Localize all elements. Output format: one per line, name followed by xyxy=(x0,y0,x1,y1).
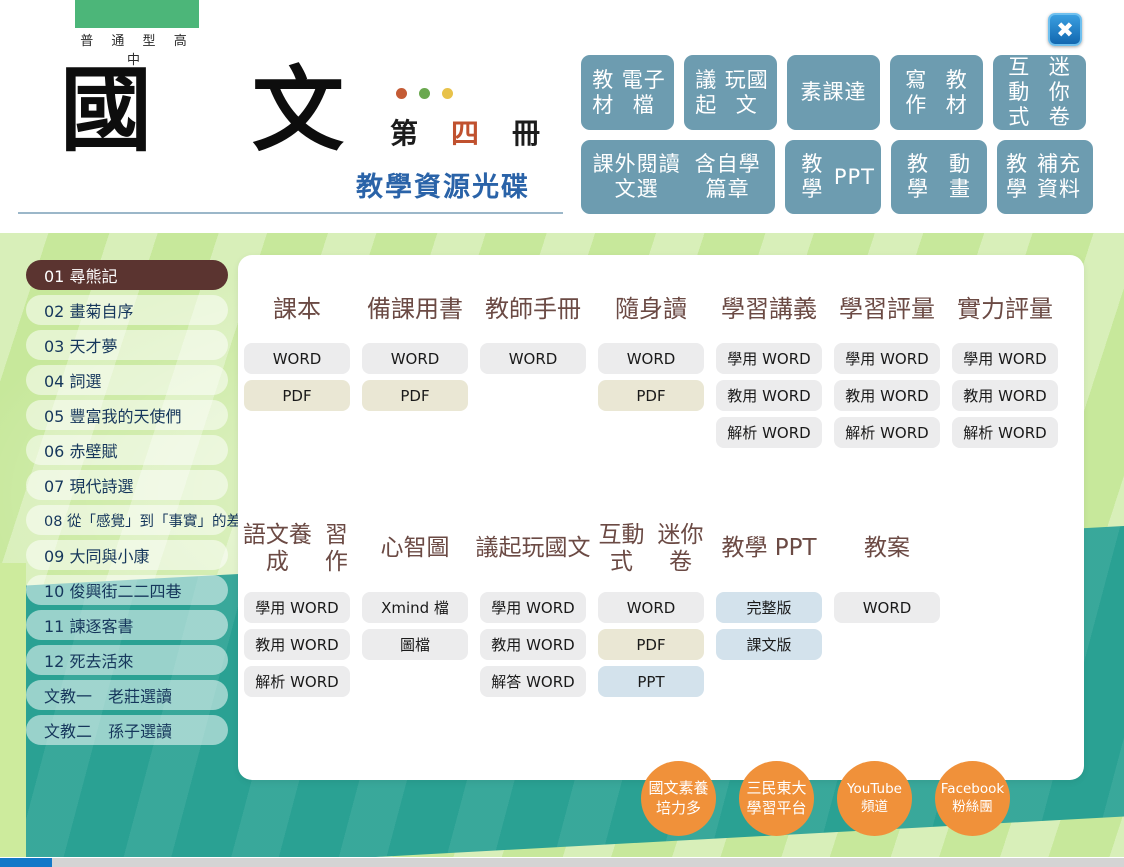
page-title: 國 文 xyxy=(60,62,378,159)
circle-chinese-literacy[interactable]: 國文素養培力多 xyxy=(641,761,716,836)
sidebar-item-label: 文教二 孫子選讀 xyxy=(44,718,172,742)
resource-section-1: 課本WORDPDF備課用書WORDPDF教師手冊WORD隨身讀WORDPDF學習… xyxy=(238,295,1084,454)
application-window: 普 通 型 高 中 國 文 第 四 冊 教學資源光碟 教材電子檔議起玩國文素課達… xyxy=(0,0,1124,867)
sidebar-item-8[interactable]: 08 從「感覺」到「事實」的差距 xyxy=(26,505,228,535)
header-button-line: 補充資料 xyxy=(1031,152,1087,202)
sidebar-item-11[interactable]: 11 諫逐客書 xyxy=(26,610,228,640)
resource-chip[interactable]: 學用 WORD xyxy=(952,343,1058,374)
resource-chip-stack: WORDPDFPPT xyxy=(598,592,704,703)
header-button-group: 教材電子檔議起玩國文素課達寫作教材互動式迷你卷 課外閱讀文選含自學篇章教學PPT… xyxy=(581,55,1101,224)
header-button-line: 教學 xyxy=(1003,152,1031,202)
brand-badge xyxy=(75,0,199,28)
horizontal-scrollbar-track[interactable] xyxy=(0,858,1124,867)
btn-interactive-mini-quiz[interactable]: 互動式迷你卷 xyxy=(993,55,1086,130)
resource-chip-stack: WORDPDF xyxy=(362,343,468,417)
header-button-line: 含自學篇章 xyxy=(686,152,769,202)
btn-teaching-ppt[interactable]: 教學PPT xyxy=(785,140,881,214)
resource-chip-stack: WORD xyxy=(480,343,586,380)
btn-teaching-material-efile[interactable]: 教材電子檔 xyxy=(581,55,674,130)
resource-chip[interactable]: WORD xyxy=(598,592,704,623)
btn-discuss-play-chinese[interactable]: 議起玩國文 xyxy=(684,55,777,130)
resource-column-title: 語文養成習作 xyxy=(238,520,356,578)
dot-yellow xyxy=(442,88,453,99)
resource-chip[interactable]: WORD xyxy=(362,343,468,374)
header-button-row-2: 課外閱讀文選含自學篇章教學PPT教學動畫教學補充資料 xyxy=(581,140,1101,214)
resource-chip-stack: 學用 WORD教用 WORD解析 WORD xyxy=(716,343,822,454)
resource-chip-stack: Xmind 檔圖檔 xyxy=(362,592,468,666)
sidebar-item-label: 文教一 老莊選讀 xyxy=(44,683,172,707)
sidebar-item-label: 01 尋熊記 xyxy=(44,263,117,287)
resource-column: 備課用書WORDPDF xyxy=(356,295,474,454)
resource-column: 學習評量學用 WORD教用 WORD解析 WORD xyxy=(828,295,946,454)
sidebar-item-label: 11 諫逐客書 xyxy=(44,613,133,637)
resource-chip[interactable]: PPT xyxy=(598,666,704,697)
resource-chip[interactable]: 學用 WORD xyxy=(716,343,822,374)
sidebar-item-label: 05 豐富我的天使們 xyxy=(44,403,181,427)
sidebar-item-6[interactable]: 06 赤壁賦 xyxy=(26,435,228,465)
sidebar-item-label: 04 詞選 xyxy=(44,368,101,392)
resource-chip[interactable]: PDF xyxy=(362,380,468,411)
resource-column-title: 學習講義 xyxy=(721,295,817,329)
btn-extracurricular-reading[interactable]: 課外閱讀文選含自學篇章 xyxy=(581,140,775,214)
dot-green xyxy=(419,88,430,99)
chapter-sidebar: 01 尋熊記02 畫菊自序03 天才夢04 詞選05 豐富我的天使們06 赤壁賦… xyxy=(26,260,228,750)
circle-line-2: 頻道 xyxy=(861,799,888,817)
volume-indicator: 第 四 冊 xyxy=(390,112,540,152)
circle-line-1: YouTube xyxy=(847,781,902,799)
resource-column: 教案WORD xyxy=(828,520,946,703)
resource-column-title: 隨身讀 xyxy=(615,295,687,329)
sidebar-item-label: 08 從「感覺」到「事實」的差距 xyxy=(44,510,256,531)
sidebar-item-label: 06 赤壁賦 xyxy=(44,438,117,462)
resource-chip[interactable]: 學用 WORD xyxy=(834,343,940,374)
dot-red xyxy=(396,88,407,99)
header-button-line: 電子檔 xyxy=(619,68,668,118)
resource-chip[interactable]: 完整版 xyxy=(716,592,822,623)
resource-column-title: 互動式迷你卷 xyxy=(592,520,710,578)
resource-column-title-line: 國文 xyxy=(545,535,591,562)
header-button-line: 寫作 xyxy=(896,68,937,118)
resource-column-title: 學習評量 xyxy=(839,295,935,329)
resource-chip[interactable]: 解答 WORD xyxy=(480,666,586,697)
resource-column-title-line: 語文養成 xyxy=(238,522,317,576)
resource-column-title: 課本 xyxy=(273,295,321,329)
header-button-line: 課外閱讀文選 xyxy=(587,152,686,202)
resource-chip[interactable]: 教用 WORD xyxy=(952,380,1058,411)
btn-teaching-animation[interactable]: 教學動畫 xyxy=(891,140,987,214)
sidebar-item-label: 02 畫菊自序 xyxy=(44,298,133,322)
btn-teaching-supplement[interactable]: 教學補充資料 xyxy=(997,140,1093,214)
resource-column-title: 教師手冊 xyxy=(485,295,581,329)
left-green-strip xyxy=(0,563,26,857)
sidebar-item-12[interactable]: 12 死去活來 xyxy=(26,645,228,675)
footer-link-circles: 國文素養培力多三民東大學習平台YouTube頻道Facebook粉絲團 xyxy=(641,761,1010,836)
header-button-line: 教材 xyxy=(587,68,619,118)
resource-chip[interactable]: 圖檔 xyxy=(362,629,468,660)
sidebar-item-1[interactable]: 01 尋熊記 xyxy=(26,260,228,290)
header-button-line: 玩國文 xyxy=(722,68,771,118)
resource-column: 心智圖Xmind 檔圖檔 xyxy=(356,520,474,703)
circle-line-1: 國文素養 xyxy=(648,779,708,799)
resource-chip[interactable]: WORD xyxy=(480,343,586,374)
resource-column: 課本WORDPDF xyxy=(238,295,356,454)
resource-column: 教師手冊WORD xyxy=(474,295,592,454)
resource-chip[interactable]: 解析 WORD xyxy=(244,666,350,697)
sidebar-item-2[interactable]: 02 畫菊自序 xyxy=(26,295,228,325)
resource-column-title-line: 教師手冊 xyxy=(485,295,581,323)
resource-column-title: 心智圖 xyxy=(381,520,450,578)
circle-facebook[interactable]: Facebook粉絲團 xyxy=(935,761,1010,836)
resource-column-title-line: 學習評量 xyxy=(839,295,935,323)
header-divider xyxy=(18,212,563,214)
resource-column: 實力評量學用 WORD教用 WORD解析 WORD xyxy=(946,295,1064,454)
resource-chip[interactable]: 學用 WORD xyxy=(244,592,350,623)
resource-column: 議起玩國文學用 WORD教用 WORD解答 WORD xyxy=(474,520,592,703)
circle-line-2: 粉絲團 xyxy=(952,799,993,817)
resource-column: 語文養成習作學用 WORD教用 WORD解析 WORD xyxy=(238,520,356,703)
resource-column-title-line: 迷你卷 xyxy=(651,522,710,576)
volume-prefix: 第 xyxy=(390,112,418,152)
resource-column: 教學 PPT完整版課文版 xyxy=(710,520,828,703)
sidebar-item-10[interactable]: 10 俊興街二二四巷 xyxy=(26,575,228,605)
resource-chip[interactable]: 解析 WORD xyxy=(834,417,940,448)
resource-chip-stack: WORDPDF xyxy=(244,343,350,417)
resource-chip-stack: WORD xyxy=(834,592,940,629)
resource-column-title-line: 實力評量 xyxy=(957,295,1053,323)
sidebar-item-5[interactable]: 05 豐富我的天使們 xyxy=(26,400,228,430)
resource-chip-stack: WORDPDF xyxy=(598,343,704,417)
volume-number: 四 xyxy=(451,112,479,152)
header-button-line: 教學 xyxy=(897,152,939,202)
volume-suffix: 冊 xyxy=(512,112,540,152)
resource-chip[interactable]: PDF xyxy=(244,380,350,411)
resource-column-title-line: 教案 xyxy=(864,535,910,562)
header-button-line: PPT xyxy=(834,165,875,190)
resource-column-title-line: 隨身讀 xyxy=(615,295,687,323)
resource-column: 互動式迷你卷WORDPDFPPT xyxy=(592,520,710,703)
sidebar-item-label: 12 死去活來 xyxy=(44,648,133,672)
resource-column: 隨身讀WORDPDF xyxy=(592,295,710,454)
resource-chip[interactable]: WORD xyxy=(598,343,704,374)
circle-sanmin-platform[interactable]: 三民東大學習平台 xyxy=(739,761,814,836)
resource-column-title: 教學 PPT xyxy=(721,520,816,578)
resource-chip[interactable]: WORD xyxy=(244,343,350,374)
resource-card: 課本WORDPDF備課用書WORDPDF教師手冊WORD隨身讀WORDPDF學習… xyxy=(238,255,1084,780)
resource-chip-stack: 學用 WORD教用 WORD解答 WORD xyxy=(480,592,586,703)
btn-sukeda[interactable]: 素課達 xyxy=(787,55,880,130)
resource-chip[interactable]: 解析 WORD xyxy=(716,417,822,448)
sidebar-item-3[interactable]: 03 天才夢 xyxy=(26,330,228,360)
circle-line-2: 培力多 xyxy=(656,799,701,819)
resource-chip[interactable]: 學用 WORD xyxy=(480,592,586,623)
resource-chip[interactable]: PDF xyxy=(598,629,704,660)
sidebar-item-14[interactable]: 文教二 孫子選讀 xyxy=(26,715,228,745)
resource-column-title-line: 互動式 xyxy=(592,522,651,576)
sidebar-item-label: 10 俊興街二二四巷 xyxy=(44,578,181,602)
resource-column-title-line: 備課用書 xyxy=(367,295,463,323)
resource-column-title: 備課用書 xyxy=(367,295,463,329)
resource-chip[interactable]: Xmind 檔 xyxy=(362,592,468,623)
resource-column-title: 實力評量 xyxy=(957,295,1053,329)
resource-column-title-line: 學習講義 xyxy=(721,295,817,323)
resource-column-title-line: 議起玩 xyxy=(476,535,545,562)
resource-column-title-line: 教學 PPT xyxy=(721,535,816,562)
sidebar-item-label: 07 現代詩選 xyxy=(44,473,133,497)
header-button-line: 互動式 xyxy=(999,55,1040,129)
sidebar-item-label: 03 天才夢 xyxy=(44,333,117,357)
resource-column-title-line: 習作 xyxy=(317,522,356,576)
header-button-row-1: 教材電子檔議起玩國文素課達寫作教材互動式迷你卷 xyxy=(581,55,1101,130)
resource-chip-stack: 學用 WORD教用 WORD解析 WORD xyxy=(952,343,1058,454)
sidebar-item-label: 09 大同與小康 xyxy=(44,543,149,567)
sidebar-item-4[interactable]: 04 詞選 xyxy=(26,365,228,395)
resource-chip-stack: 學用 WORD教用 WORD解析 WORD xyxy=(834,343,940,454)
page-subtitle: 教學資源光碟 xyxy=(356,165,530,204)
sidebar-item-13[interactable]: 文教一 老莊選讀 xyxy=(26,680,228,710)
resource-chip[interactable]: 課文版 xyxy=(716,629,822,660)
resource-column-title: 教案 xyxy=(864,520,910,578)
circle-line-1: Facebook xyxy=(941,781,1004,799)
resource-chip[interactable]: 教用 WORD xyxy=(834,380,940,411)
close-icon[interactable]: ✖ xyxy=(1048,13,1082,46)
resource-chip-stack: 學用 WORD教用 WORD解析 WORD xyxy=(244,592,350,703)
header-button-line: 教學 xyxy=(791,152,834,202)
horizontal-scrollbar-thumb[interactable] xyxy=(0,858,52,867)
circle-line-2: 學習平台 xyxy=(746,799,806,819)
resource-section-2: 語文養成習作學用 WORD教用 WORD解析 WORD心智圖Xmind 檔圖檔議… xyxy=(238,520,1084,703)
resource-chip[interactable]: 解析 WORD xyxy=(952,417,1058,448)
resource-column: 學習講義學用 WORD教用 WORD解析 WORD xyxy=(710,295,828,454)
header-button-line: 素課達 xyxy=(801,80,867,105)
page-header: 普 通 型 高 中 國 文 第 四 冊 教學資源光碟 教材電子檔議起玩國文素課達… xyxy=(0,0,1124,233)
sidebar-item-7[interactable]: 07 現代詩選 xyxy=(26,470,228,500)
resource-chip[interactable]: WORD xyxy=(834,592,940,623)
resource-chip-stack: 完整版課文版 xyxy=(716,592,822,666)
resource-column-title-line: 課本 xyxy=(273,295,321,323)
circle-youtube[interactable]: YouTube頻道 xyxy=(837,761,912,836)
resource-column-title-line: 心智圖 xyxy=(381,535,450,562)
resource-chip[interactable]: 教用 WORD xyxy=(716,380,822,411)
sidebar-item-9[interactable]: 09 大同與小康 xyxy=(26,540,228,570)
header-button-line: 議起 xyxy=(690,68,722,118)
header-button-line: 教材 xyxy=(937,68,978,118)
header-button-line: 動畫 xyxy=(939,152,981,202)
header-button-line: 迷你卷 xyxy=(1040,55,1081,129)
resource-chip[interactable]: 教用 WORD xyxy=(244,629,350,660)
circle-line-1: 三民東大 xyxy=(746,779,806,799)
decorative-dots xyxy=(396,88,453,99)
resource-column-title: 議起玩國文 xyxy=(476,520,591,578)
resource-chip[interactable]: 教用 WORD xyxy=(480,629,586,660)
btn-writing-material[interactable]: 寫作教材 xyxy=(890,55,983,130)
resource-chip[interactable]: PDF xyxy=(598,380,704,411)
